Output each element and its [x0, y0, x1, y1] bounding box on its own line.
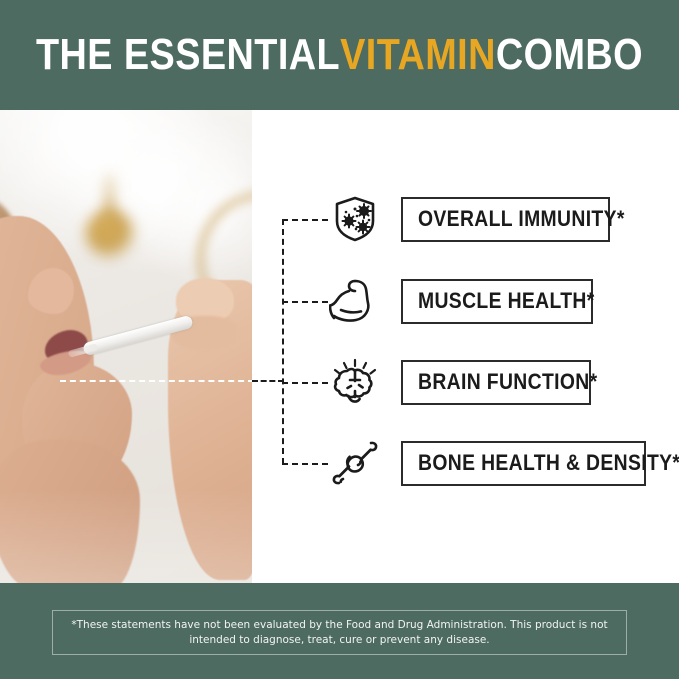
brain-icon [326, 353, 384, 411]
benefits-list: OVERALL IMMUNITY* MUSCLE HEALTH* [0, 110, 679, 583]
infographic-canvas: THE ESSENTIAL VITAMIN COMBO [0, 0, 679, 679]
benefit-label: BRAIN FUNCTION* [418, 369, 598, 395]
benefit-row-overall-immunity[interactable]: OVERALL IMMUNITY* [326, 188, 610, 250]
page-title-part2: COMBO [496, 30, 643, 80]
page-title: THE ESSENTIAL VITAMIN COMBO [48, 0, 632, 110]
page-title-accent: VITAMIN [340, 30, 496, 80]
benefit-label: MUSCLE HEALTH* [418, 288, 595, 314]
shield-virus-icon [326, 190, 384, 248]
bone-joint-icon [326, 434, 384, 492]
benefit-row-bone-health-density[interactable]: BONE HEALTH & DENSITY* [326, 432, 646, 494]
flexed-bicep-icon [326, 272, 384, 330]
benefit-box-bone-health-density: BONE HEALTH & DENSITY* [401, 441, 646, 486]
benefit-box-brain-function: BRAIN FUNCTION* [401, 360, 591, 405]
benefit-label: OVERALL IMMUNITY* [418, 206, 625, 232]
benefit-row-brain-function[interactable]: BRAIN FUNCTION* [326, 351, 591, 413]
benefit-label: BONE HEALTH & DENSITY* [418, 450, 679, 476]
disclaimer-text: *These statements have not been evaluate… [67, 618, 612, 648]
disclaimer-box: *These statements have not been evaluate… [52, 610, 627, 655]
benefit-row-muscle-health[interactable]: MUSCLE HEALTH* [326, 270, 593, 332]
benefit-box-overall-immunity: OVERALL IMMUNITY* [401, 197, 610, 242]
page-title-part1: THE ESSENTIAL [36, 30, 340, 80]
benefit-box-muscle-health: MUSCLE HEALTH* [401, 279, 593, 324]
